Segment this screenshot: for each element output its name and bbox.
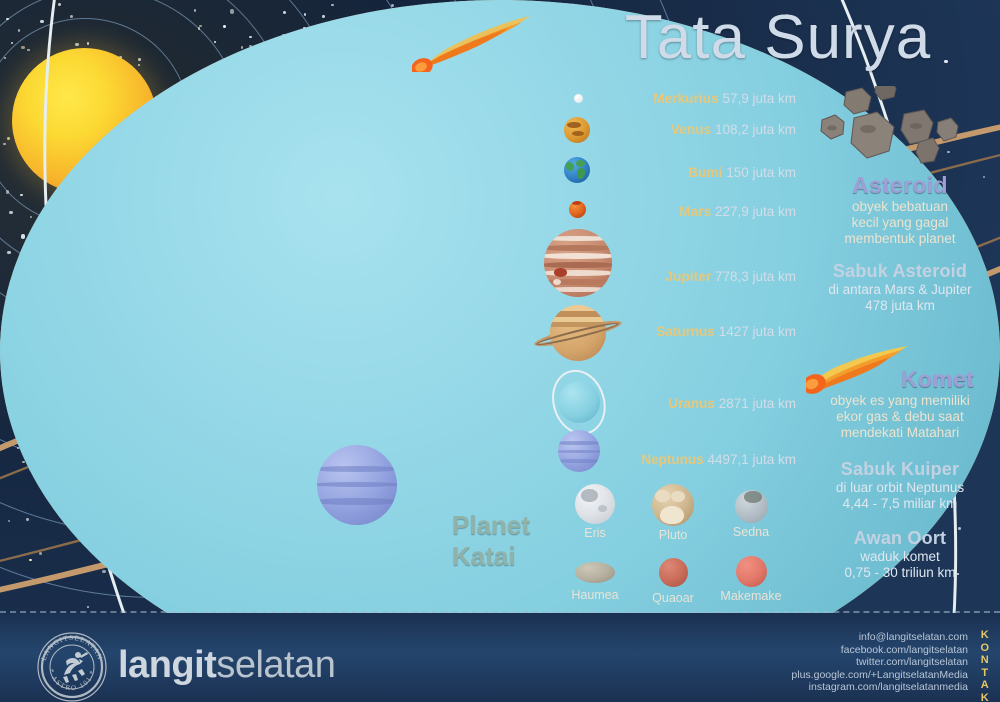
kontak-letter: K — [976, 692, 994, 702]
planet-name: Neptunus — [641, 452, 703, 467]
oort-cloud-line-1: waduk komet — [800, 549, 1000, 565]
eris-sphere-icon — [575, 484, 615, 524]
dwarf-title-line-1: Planet — [452, 510, 552, 541]
dwarf-planet-name: Pluto — [634, 528, 712, 542]
svg-text:* ASTRO 101 *: * ASTRO 101 * — [47, 668, 97, 692]
asteroid-belt-heading: Sabuk Asteroid — [800, 261, 1000, 282]
oort-cloud-heading: Awan Oort — [800, 528, 1000, 549]
kontak-vertical-label: KONTAK — [976, 629, 994, 702]
dwarf-planet-quaoar: Quaoar — [634, 556, 712, 605]
brand-wordmark: langitselatan — [118, 643, 335, 687]
planet-name: Mars — [679, 204, 711, 219]
solar-system-infographic: Tata Surya Merkurius 57,9 juta km Venus … — [0, 0, 1000, 702]
dwarf-planets-grid: Eris Pluto Sedna — [556, 484, 792, 605]
svg-text:LANGITSELATAN: LANGITSELATAN — [40, 634, 104, 662]
neptune-sphere-icon — [558, 430, 600, 472]
asteroid-heading: Asteroid — [800, 172, 1000, 199]
planet-distance: 57,9 juta km — [722, 91, 796, 106]
contact-facebook[interactable]: facebook.com/langitselatan — [791, 644, 968, 657]
kontak-letter: N — [976, 654, 994, 667]
planet-name: Saturnus — [656, 324, 715, 339]
dwarf-planet-name: Haumea — [556, 588, 634, 602]
kuiper-belt-heading: Sabuk Kuiper — [800, 459, 1000, 480]
dwarf-planet-name: Quaoar — [634, 591, 712, 605]
jupiter-sphere-icon — [544, 229, 612, 297]
quaoar-sphere-icon — [659, 558, 688, 587]
asteroid-desc-line-3: membentuk planet — [800, 231, 1000, 247]
planet-distance: 1427 juta km — [719, 324, 796, 339]
pluto-sphere-icon — [652, 484, 694, 526]
asteroid-block: Asteroid obyek bebatuan kecil yang gagal… — [800, 172, 1000, 247]
asteroid-belt-line-1: di antara Mars & Jupiter — [800, 282, 1000, 298]
kuiper-belt-block: Sabuk Kuiper di luar orbit Neptunus 4,44… — [800, 459, 1000, 512]
dwarf-planet-pluto: Pluto — [634, 484, 712, 542]
contact-google-plus[interactable]: plus.google.com/+LangitselatanMedia — [791, 669, 968, 682]
haumea-ellipse-icon — [575, 562, 615, 583]
planet-name: Merkurius — [653, 91, 718, 106]
mercury-sphere-icon — [574, 94, 583, 103]
comet-desc-line-3: mendekati Matahari — [800, 425, 1000, 441]
dwarf-row-2: Haumea Quaoar Makemake — [556, 556, 792, 605]
planet-distance: 108,2 juta km — [715, 122, 796, 137]
asteroid-belt-line-2: 478 juta km — [800, 298, 1000, 314]
footer: LANGITSELATAN * ASTRO 101 * langi — [0, 613, 1000, 702]
venus-sphere-icon — [564, 117, 590, 143]
dwarf-planet-name: Sedna — [712, 525, 790, 539]
langitselatan-logo: LANGITSELATAN * ASTRO 101 * — [36, 631, 108, 702]
dwarf-row-1: Eris Pluto Sedna — [556, 484, 792, 542]
dwarf-planet-name: Eris — [556, 526, 634, 540]
brand-bold: langit — [118, 644, 216, 686]
oort-cloud-block: Awan Oort waduk komet 0,75 - 30 triliun … — [800, 528, 1000, 581]
comet-desc-line-2: ekor gas & debu saat — [800, 409, 1000, 425]
comet-icon — [806, 344, 910, 398]
mars-sphere-icon — [569, 201, 586, 218]
dwarf-title-line-2: Katai — [452, 541, 552, 572]
kontak-letter: K — [976, 629, 994, 642]
contact-twitter[interactable]: twitter.com/langitselatan — [791, 656, 968, 669]
dwarf-planet-makemake: Makemake — [712, 556, 790, 605]
planet-name: Bumi — [688, 165, 722, 180]
sedna-sphere-icon — [735, 490, 768, 523]
saturn-sphere-icon — [550, 305, 606, 361]
asteroid-desc-line-1: obyek bebatuan — [800, 199, 1000, 215]
map-planet-neptune — [317, 445, 397, 525]
dwarf-planet-eris: Eris — [556, 484, 634, 542]
kuiper-belt-line-2: 4,44 - 7,5 miliar km — [800, 496, 1000, 512]
dwarf-planet-name: Makemake — [712, 589, 790, 603]
kontak-letter: O — [976, 642, 994, 655]
brand-light: selatan — [216, 644, 335, 686]
contact-email[interactable]: info@langitselatan.com — [791, 631, 968, 644]
oort-cloud-line-2: 0,75 - 30 triliun km — [800, 565, 1000, 581]
planet-name: Venus — [671, 122, 711, 137]
kontak-letter: T — [976, 667, 994, 680]
kuiper-belt-line-1: di luar orbit Neptunus — [800, 480, 1000, 496]
dwarf-planet-haumea: Haumea — [556, 556, 634, 605]
planet-distance: 778,3 juta km — [715, 269, 796, 284]
earth-sphere-icon — [564, 157, 590, 183]
planet-name: Jupiter — [665, 269, 711, 284]
asteroid-desc-line-2: kecil yang gagal — [800, 215, 1000, 231]
page-title: Tata Surya — [566, 4, 990, 72]
asteroid-belt-block: Sabuk Asteroid di antara Mars & Jupiter … — [800, 261, 1000, 314]
right-info-column: Asteroid obyek bebatuan kecil yang gagal… — [800, 84, 1000, 584]
planet-distance: 4497,1 juta km — [707, 452, 796, 467]
uranus-sphere-icon — [558, 381, 600, 423]
makemake-sphere-icon — [736, 556, 767, 587]
dwarf-planets-title: Planet Katai — [452, 510, 552, 572]
planet-distance: 2871 juta km — [719, 396, 796, 411]
contact-list: info@langitselatan.com facebook.com/lang… — [791, 631, 968, 694]
kontak-letter: A — [976, 679, 994, 692]
map-comet — [412, 14, 542, 72]
planet-distance: 227,9 juta km — [715, 204, 796, 219]
planet-distance: 150 juta km — [726, 165, 796, 180]
dwarf-planet-sedna: Sedna — [712, 484, 790, 542]
contact-instagram[interactable]: instagram.com/langitselatanmedia — [791, 681, 968, 694]
planet-name: Uranus — [668, 396, 715, 411]
